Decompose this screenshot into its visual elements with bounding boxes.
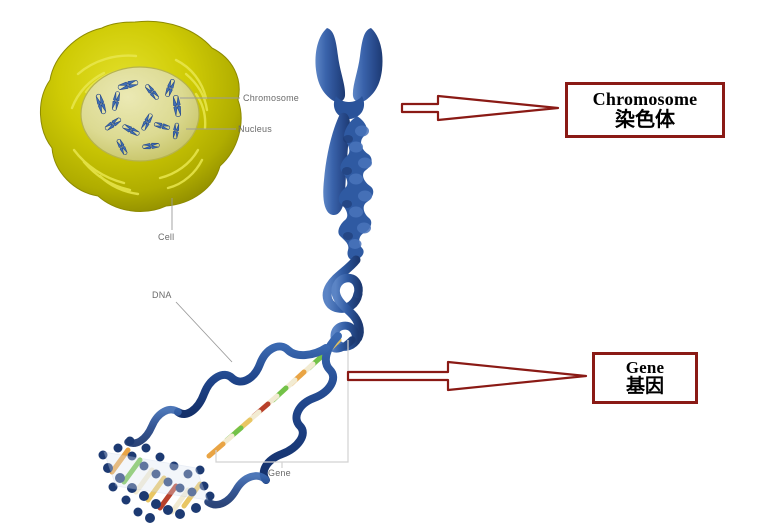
nucleus-shape	[81, 67, 199, 161]
diagram-canvas: Chromosome Nucleus Cell DNA Gene Chromos…	[0, 0, 782, 529]
chromosome-illustration	[315, 28, 382, 260]
leader-dna	[176, 302, 232, 362]
arrow-chromosome-icon	[402, 96, 558, 120]
callout-chromosome-chinese: 染色体	[615, 109, 675, 130]
cell-illustration	[40, 21, 241, 211]
callout-gene-chinese: 基因	[626, 377, 664, 397]
callout-gene-english: Gene	[626, 359, 665, 377]
callout-box-chromosome: Chromosome 染色体	[565, 82, 725, 138]
label-dna: DNA	[152, 290, 172, 300]
label-nucleus: Nucleus	[238, 124, 272, 134]
illustration-layer	[0, 0, 782, 529]
dna-ladder-model	[99, 437, 215, 524]
label-gene-bracket: Gene	[268, 468, 291, 478]
label-cell: Cell	[158, 232, 174, 242]
callout-arrows	[348, 96, 586, 390]
callout-box-gene: Gene 基因	[592, 352, 698, 404]
callout-chromosome-english: Chromosome	[593, 90, 698, 109]
chromatin-fiber	[327, 260, 359, 349]
label-chromosome: Chromosome	[243, 93, 299, 103]
arrow-gene-icon	[348, 362, 586, 390]
